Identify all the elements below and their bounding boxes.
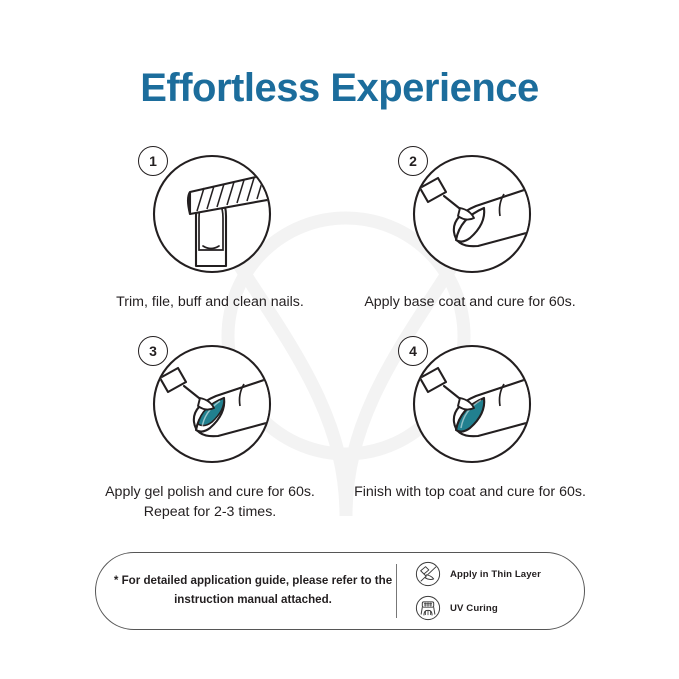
step-caption-1: Trim, file, buff and clean nails.: [88, 292, 332, 312]
step-illustration-wrap-1: 1: [130, 142, 290, 290]
step-item-1: 1: [88, 142, 332, 332]
step-caption-2: Apply base coat and cure for 60s.: [348, 292, 592, 312]
step-number-badge-1: 1: [138, 146, 168, 176]
top-coat-brush-icon: [412, 344, 532, 464]
footer-tip-row-thin-layer: Apply in Thin Layer: [415, 561, 584, 587]
footer-tips-list: Apply in Thin Layer: [397, 561, 584, 621]
step-caption-4: Finish with top coat and cure for 60s.: [348, 482, 592, 502]
step-number-badge-2: 2: [398, 146, 428, 176]
infographic-page: Effortless Experience 1: [0, 0, 679, 679]
step-illustration-wrap-3: 3: [130, 332, 290, 480]
uv-curing-icon: [415, 595, 441, 621]
step-item-3: 3: [88, 332, 332, 522]
step-caption-3: Apply gel polish and cure for 60s. Repea…: [88, 482, 332, 522]
step-number-badge-4: 4: [398, 336, 428, 366]
page-title: Effortless Experience: [0, 66, 679, 111]
footer-tip-label-thin-layer: Apply in Thin Layer: [450, 569, 541, 580]
apply-thin-layer-icon: [415, 561, 441, 587]
gel-polish-brush-icon: [152, 344, 272, 464]
footer-tip-row-uv-curing: UV Curing: [415, 595, 584, 621]
nail-file-icon: [152, 154, 272, 274]
step-item-2: 2: [348, 142, 592, 332]
step-illustration-wrap-2: 2: [390, 142, 550, 290]
footer-note-text: * For detailed application guide, please…: [96, 572, 396, 609]
footer-note-box: * For detailed application guide, please…: [95, 552, 585, 630]
step-item-4: 4 Finish: [348, 332, 592, 522]
step-illustration-wrap-4: 4: [390, 332, 550, 480]
footer-tip-label-uv-curing: UV Curing: [450, 603, 498, 614]
steps-grid: 1: [88, 142, 592, 522]
step-number-badge-3: 3: [138, 336, 168, 366]
base-coat-brush-icon: [412, 154, 532, 274]
